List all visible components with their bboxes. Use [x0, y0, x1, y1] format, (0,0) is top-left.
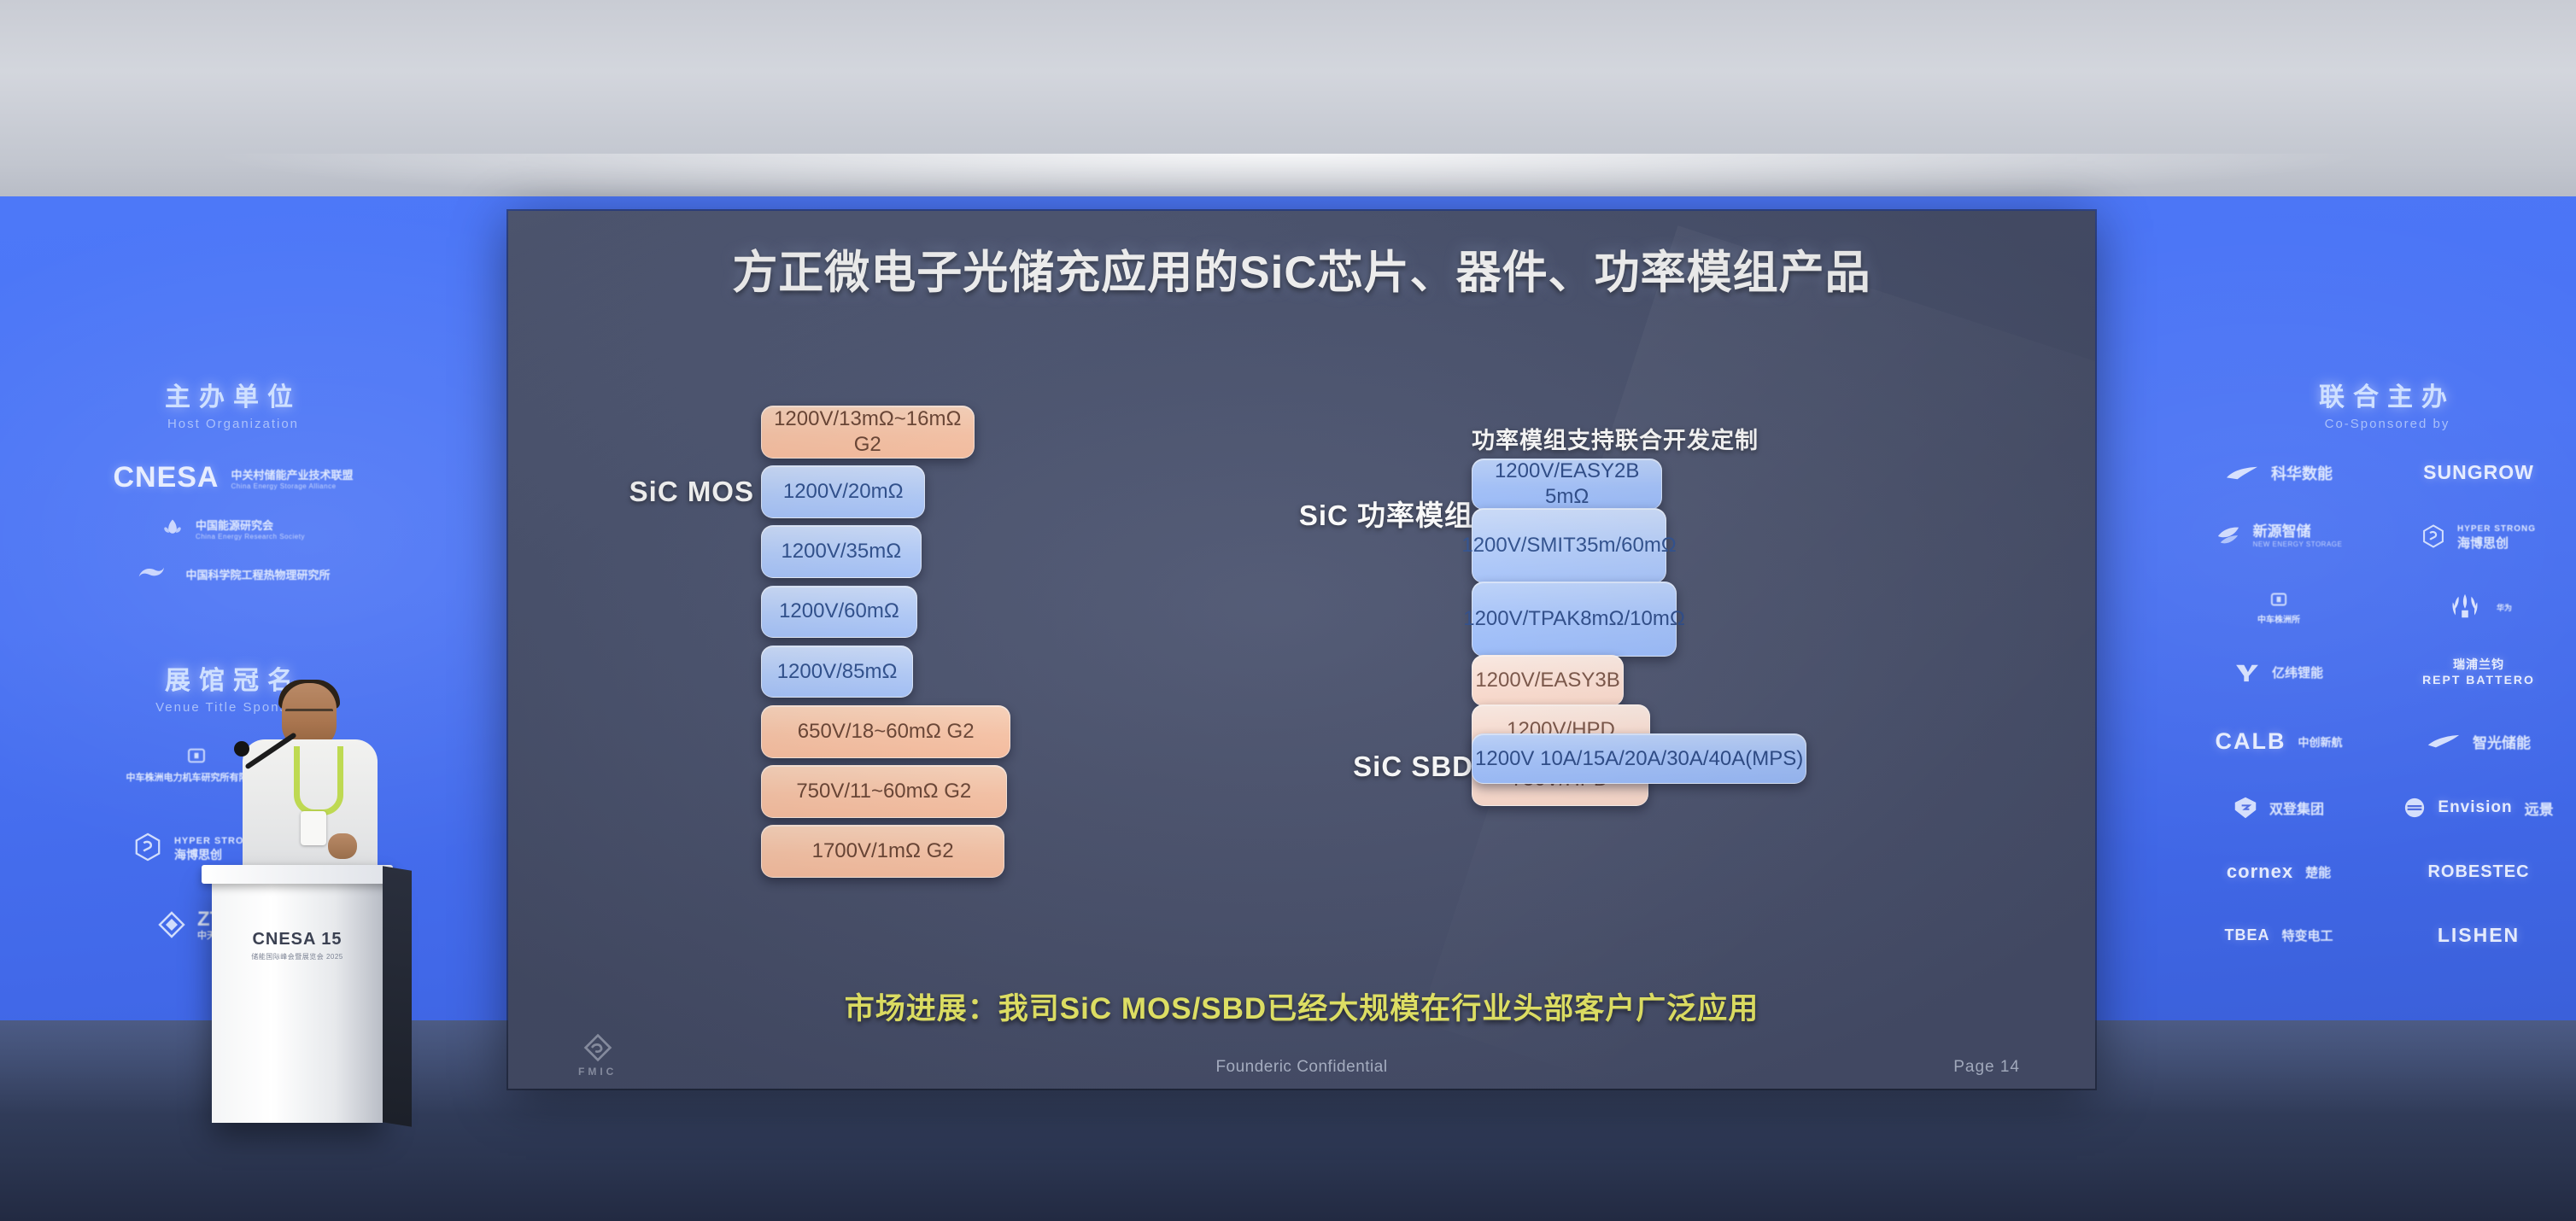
sic-mos-pill[interactable]: 1700V/1mΩ G2 — [761, 825, 1004, 878]
rept-logo-en-text: REPT BATTERO — [2422, 673, 2535, 688]
power-module-pill[interactable]: 1200V/EASY2B 5mΩ — [1472, 459, 1662, 510]
cnesa-logo-text: CNESA — [113, 461, 219, 494]
logo-item: 中国能源研究会 China Energy Research Society — [161, 517, 305, 540]
zhiguang-swoosh-icon — [2427, 733, 2461, 751]
crrc-logo: 中车株洲所 — [2257, 588, 2300, 627]
sic-mos-pill[interactable]: 1200V/85mΩ — [761, 646, 913, 698]
newenergy-logo: 新源智储 NEW ENERGY STORAGE — [2253, 523, 2343, 549]
zhiguang-logo-cn: 智光储能 — [2473, 731, 2531, 752]
pill-line: 1200V/85mΩ — [777, 659, 898, 685]
cornex-logo-text: cornex — [2227, 861, 2293, 883]
swirl-emblem-icon — [136, 563, 173, 585]
speaker-hand — [328, 833, 357, 859]
pill-line: 35m/60mΩ — [1576, 533, 1677, 558]
pill-line: 1200V/EASY2B 5mΩ — [1472, 459, 1661, 510]
ceiling — [0, 0, 2576, 205]
pill-line: 1200V/SMIT — [1461, 533, 1575, 558]
sungrow-logo-text: SUNGROW — [2423, 461, 2534, 484]
cornex-logo-cn: 楚能 — [2305, 863, 2331, 881]
logo-item: Envision 远景 — [2403, 797, 2553, 819]
pill-line: 1200V/20mΩ — [783, 479, 904, 505]
sic-power-module-label: SiC 功率模组 — [1243, 493, 1473, 534]
sic-mos-pill[interactable]: 750V/11~60mΩ G2 — [761, 765, 1007, 818]
power-module-pill[interactable]: 1200V/SMIT35m/60mΩ — [1472, 508, 1666, 583]
sic-mos-pill[interactable]: 1200V/60mΩ — [761, 586, 917, 639]
slide-title: 方正微电子光储充应用的SiC芯片、器件、功率模组产品 — [508, 237, 2095, 301]
eve-y-icon — [2234, 663, 2260, 683]
sic-mos-label: SiC MOS — [508, 476, 754, 508]
hyperstrong2-logo-cn-text: 海博思创 — [2457, 536, 2536, 552]
lotus-emblem-icon — [161, 517, 184, 540]
logo-item: 亿纬锂能 — [2234, 663, 2323, 683]
pill-line: 1200V/60mΩ — [779, 599, 899, 624]
logo-item: 中车株洲所 — [2257, 588, 2300, 627]
power-module-pill[interactable]: 1200V/TPAK8mΩ/10mΩ — [1472, 581, 1677, 657]
podium-logo: CNESA 15 储能国际峰会暨展览会 2025 — [212, 930, 383, 961]
pill-line: 1200V/35mΩ — [781, 539, 901, 564]
microphone-head — [234, 741, 249, 757]
co-sponsored-heading: 联合主办 Co-Sponsored by — [2221, 376, 2554, 431]
cnesa-logo-en-text: China Energy Storage Alliance — [231, 482, 354, 490]
logo-item: LISHEN — [2438, 924, 2520, 947]
podium: CNESA 15 储能国际峰会暨展览会 2025 — [212, 875, 383, 1123]
eve-logo-cn: 亿纬锂能 — [2272, 663, 2323, 681]
tbea-logo-cn: 特变电工 — [2281, 926, 2333, 944]
calb-logo-cn: 中创新航 — [2298, 733, 2342, 750]
co-sponsored-heading-en: Co-Sponsored by — [2221, 417, 2554, 431]
co-sponsor-logo-grid-2: 亿纬锂能 瑞浦兰钧 REPT BATTERO CALB 中创新航 智光储能 双登… — [2187, 657, 2571, 947]
tbea-logo-text: TBEA — [2224, 926, 2269, 944]
speaker-glasses — [285, 709, 333, 721]
cnesa-logo-cn: 中关村储能产业技术联盟 China Energy Storage Allianc… — [231, 466, 354, 490]
power-module-pill[interactable]: 1200V/EASY3B — [1472, 655, 1624, 706]
crrc-emblem-icon — [2268, 588, 2290, 610]
sic-mos-pill[interactable]: 1200V/35mΩ — [761, 525, 922, 578]
confidential-footer: Founderic Confidential — [508, 1058, 2095, 1077]
logo-item: cornex 楚能 — [2227, 861, 2331, 883]
host-organization-heading-cn: 主办单位 — [92, 376, 374, 413]
shuangdeng-logo-cn: 双登集团 — [2269, 797, 2324, 818]
shuangdeng-shield-icon — [2234, 796, 2257, 820]
sic-sbd-pill[interactable]: 1200V 10A/15A/20A/30A/40A(MPS) — [1472, 733, 1806, 784]
logo-item: CNESA 中关村储能产业技术联盟 China Energy Storage A… — [113, 461, 353, 494]
cers-logo-en-text: China Energy Research Society — [196, 533, 305, 540]
podium-logo-subtitle: 储能国际峰会暨展览会 2025 — [212, 952, 383, 961]
sic-mos-pill[interactable]: 1200V/20mΩ — [761, 465, 925, 518]
speaker-lanyard — [294, 746, 343, 815]
crrc2-logo-cn-text: 中车株洲所 — [2257, 616, 2300, 625]
projected-slide: 方正微电子光储充应用的SiC芯片、器件、功率模组产品 SiC MOS 1200V… — [508, 211, 2095, 1089]
logo-item: SUNGROW — [2423, 461, 2534, 484]
co-sponsored-heading-cn: 联合主办 — [2221, 376, 2554, 413]
huawei-logo-cn: 华为 — [2497, 602, 2512, 613]
logo-item: 智光储能 — [2427, 731, 2531, 752]
page-number-footer: Page 14 — [1953, 1058, 2020, 1077]
logo-item: 瑞浦兰钧 REPT BATTERO — [2422, 657, 2535, 687]
logo-item: 中国科学院工程热物理研究所 — [136, 563, 330, 585]
hyperstrong2-logo-en-text: HYPER STRONG — [2457, 524, 2536, 534]
pill-line: 750V/11~60mΩ G2 — [796, 779, 971, 804]
co-sponsor-logo-grid: 科华数能 SUNGROW 新源智储 NEW ENERGY STORAGE HYP… — [2187, 461, 2571, 627]
rept-logo-text: 瑞浦兰钧 REPT BATTERO — [2422, 657, 2535, 687]
envision-logo-text: Envision — [2438, 798, 2512, 817]
crrc-emblem-icon — [185, 745, 208, 767]
rept-logo-cn-text: 瑞浦兰钧 — [2453, 657, 2504, 671]
sic-mos-pill-stack: 1200V/13mΩ~16mΩ G21200V/20mΩ1200V/35mΩ12… — [761, 406, 1239, 815]
logo-item: ROBESTEC — [2427, 862, 2529, 882]
podium-logo-title: CNESA 15 — [212, 930, 383, 949]
sic-mos-pill[interactable]: 1200V/13mΩ~16mΩ G2 — [761, 406, 975, 459]
sic-sbd-pill-wrap: 1200V 10A/15A/20A/30A/40A(MPS) — [1472, 733, 1805, 781]
host-organization-heading-en: Host Organization — [92, 417, 374, 431]
calb-logo-text: CALB — [2215, 728, 2286, 755]
newenergy-logo-cn-text: 新源智储 — [2253, 523, 2311, 540]
newenergy-leaf-icon — [2216, 525, 2241, 547]
cnesa-logo-cn-text: 中关村储能产业技术联盟 — [231, 469, 354, 482]
logo-item: 科华数能 — [2225, 462, 2333, 484]
market-progress-note: 市场进展：我司SiC MOS/SBD已经大规模在行业头部客户广泛应用 — [508, 984, 2095, 1028]
logo-item: CALB 中创新航 — [2215, 728, 2342, 755]
power-module-custom-heading: 功率模组支持联合开发定制 — [1472, 422, 1759, 455]
envision-circle-icon — [2403, 797, 2426, 819]
robestec-logo-text: ROBESTEC — [2427, 862, 2529, 882]
hyperstrong-hex-icon — [2421, 524, 2445, 548]
newenergy-logo-en-text: NEW ENERGY STORAGE — [2253, 540, 2343, 549]
pill-line: 650V/18~60mΩ G2 — [798, 719, 975, 745]
venue-scene: 主办单位 Host Organization CNESA 中关村储能产业技术联盟… — [0, 0, 2576, 1221]
cers-logo-cn-text: 中国能源研究会 — [196, 519, 273, 532]
pill-line: 1200V/13mΩ~16mΩ G2 — [762, 406, 974, 458]
logo-item: 新源智储 NEW ENERGY STORAGE — [2216, 523, 2343, 549]
podium-top — [202, 865, 393, 884]
pill-line: 8mΩ/10mΩ — [1580, 606, 1685, 632]
pill-line: 1700V/1mΩ G2 — [812, 838, 954, 864]
sic-mos-pill[interactable]: 650V/18~60mΩ G2 — [761, 705, 1010, 758]
iet-cas-logo-cn: 中国科学院工程热物理研究所 — [185, 566, 330, 582]
envision-logo-cn: 远景 — [2525, 797, 2554, 819]
ztt-diamond-icon — [158, 911, 185, 938]
sic-power-module-pill-stack: 1200V/EASY2B 5mΩ1200V/SMIT35m/60mΩ1200V/… — [1472, 459, 1830, 766]
pill-line: 1200V/EASY3B — [1475, 668, 1619, 693]
huawei-petal-icon — [2445, 593, 2485, 622]
cers-logo-cn: 中国能源研究会 China Energy Research Society — [196, 517, 305, 540]
hyperstrong-hex-icon — [133, 832, 162, 862]
kehua-swoosh-icon — [2225, 465, 2259, 481]
lishen-logo-text: LISHEN — [2438, 924, 2520, 947]
logo-item: TBEA 特变电工 — [2224, 926, 2333, 944]
pill-line: 1200V/TPAK — [1463, 606, 1580, 632]
podium-side-panel — [383, 866, 412, 1126]
pill-line: 1200V 10A/15A/20A/30A/40A(MPS) — [1475, 746, 1803, 772]
speaker-badge — [301, 811, 326, 845]
host-organization-logos: CNESA 中关村储能产业技术联盟 China Energy Storage A… — [75, 461, 391, 585]
kehua-logo-cn: 科华数能 — [2271, 462, 2333, 484]
logo-item: 双登集团 — [2234, 796, 2324, 820]
hyperstrong-logo: HYPER STRONG 海博思创 — [2457, 520, 2536, 552]
sic-sbd-label: SiC SBD — [1260, 751, 1473, 783]
host-organization-heading: 主办单位 Host Organization — [92, 376, 374, 431]
logo-item: HYPER STRONG 海博思创 — [2421, 520, 2536, 552]
logo-item: 华为 — [2445, 593, 2512, 622]
